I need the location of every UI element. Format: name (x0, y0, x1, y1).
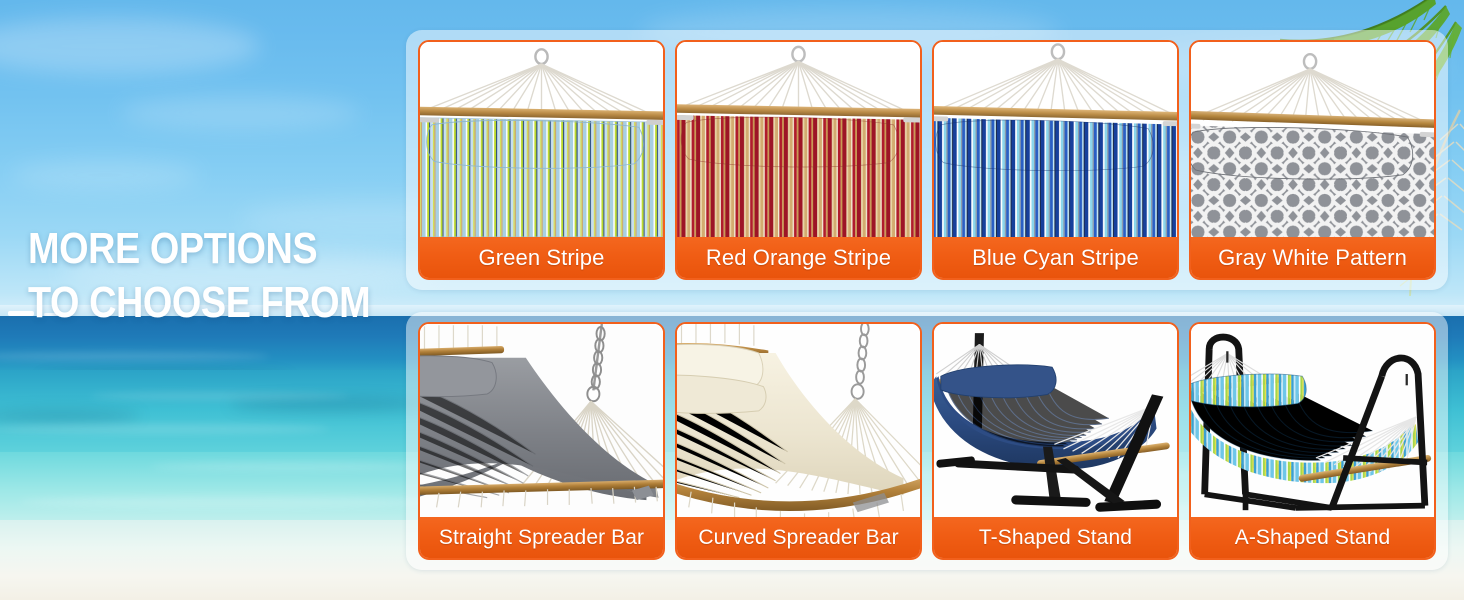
option-label: Straight Spreader Bar (420, 517, 663, 558)
option-card-gray-white-pattern[interactable]: Gray White Pattern (1189, 40, 1436, 280)
reef-shadow (230, 398, 430, 411)
option-label: Curved Spreader Bar (677, 517, 920, 558)
promo-banner: MORE OPTIONS TO CHOOSE FROM (0, 0, 1464, 600)
headline-line-1: MORE OPTIONS (28, 222, 355, 276)
style-and-stand-options-panel: Straight Spreader Bar (406, 312, 1448, 570)
option-card-curved-spreader-bar[interactable]: Curved Spreader Bar (675, 322, 922, 560)
option-card-t-shaped-stand[interactable]: T-Shaped Stand (932, 322, 1179, 560)
fabric-options-card-row: Green Stripe (406, 30, 1448, 290)
page-title: MORE OPTIONS TO CHOOSE FROM (28, 222, 355, 330)
option-label: Green Stripe (420, 237, 663, 278)
product-image-straight-spreader-bar (420, 324, 663, 517)
product-image-blue-cyan-stripe (934, 42, 1177, 237)
headline-line-2: TO CHOOSE FROM (28, 276, 355, 330)
product-image-green-stripe (420, 42, 663, 237)
product-image-curved-spreader-bar (677, 324, 920, 517)
option-label: Blue Cyan Stripe (934, 237, 1177, 278)
wave-crest (20, 496, 440, 508)
style-options-card-row: Straight Spreader Bar (406, 312, 1448, 570)
cloud (120, 96, 360, 130)
wave-crest (0, 424, 330, 434)
product-image-a-shaped-stand (1191, 324, 1434, 517)
option-card-green-stripe[interactable]: Green Stripe (418, 40, 665, 280)
option-card-blue-cyan-stripe[interactable]: Blue Cyan Stripe (932, 40, 1179, 280)
fabric-options-panel: Green Stripe (406, 30, 1448, 290)
wave-crest (150, 462, 430, 471)
product-image-gray-white-pattern (1191, 42, 1434, 237)
product-image-t-shaped-stand (934, 324, 1177, 517)
option-label: Gray White Pattern (1191, 237, 1434, 278)
option-card-straight-spreader-bar[interactable]: Straight Spreader Bar (418, 322, 665, 560)
option-label: A-Shaped Stand (1191, 517, 1434, 558)
cloud (10, 160, 200, 190)
product-image-red-orange-stripe (677, 42, 920, 237)
option-card-red-orange-stripe[interactable]: Red Orange Stripe (675, 40, 922, 280)
option-label: T-Shaped Stand (934, 517, 1177, 558)
option-label: Red Orange Stripe (677, 237, 920, 278)
option-card-a-shaped-stand[interactable]: A-Shaped Stand (1189, 322, 1436, 560)
wave-crest (90, 392, 350, 400)
